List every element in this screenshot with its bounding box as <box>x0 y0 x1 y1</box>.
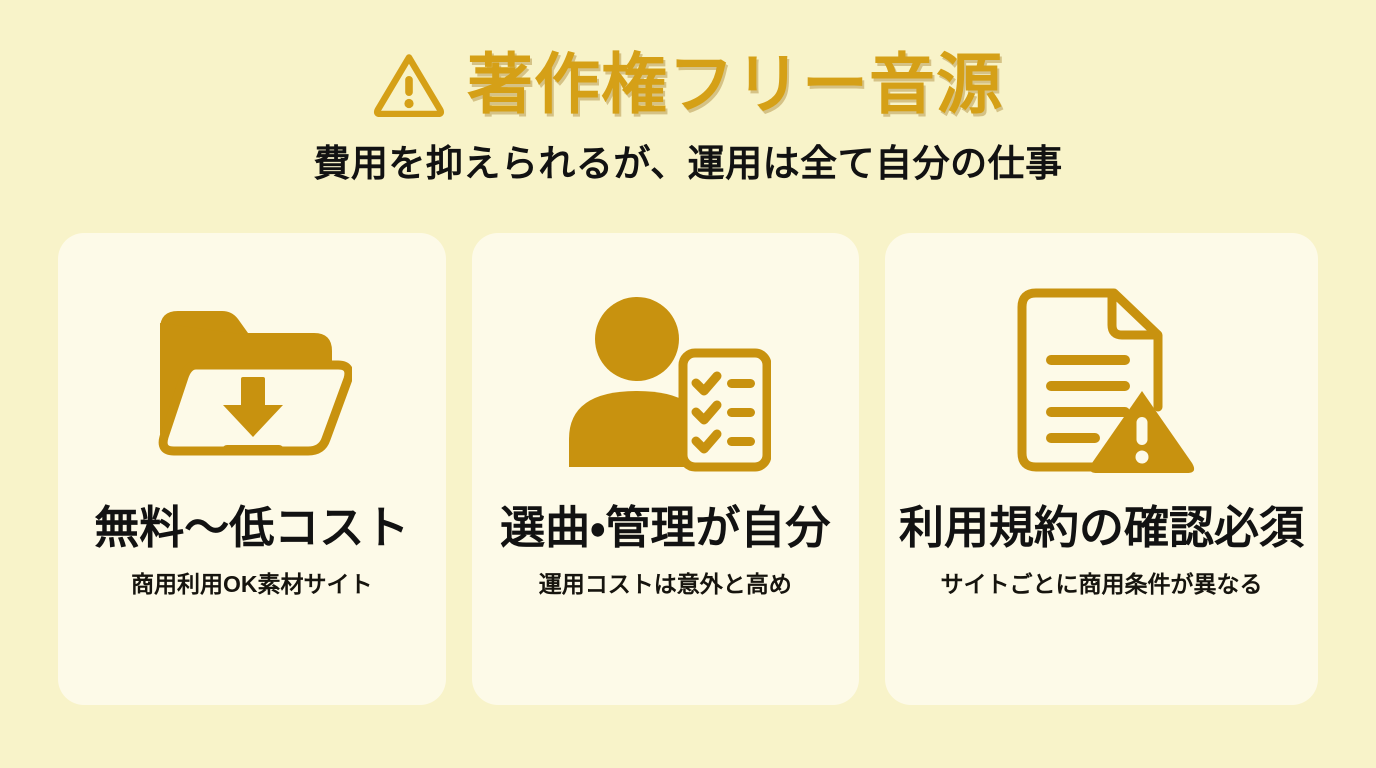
card-subtext: サイトごとに商用条件が異なる <box>941 571 1263 599</box>
person-checklist-icon <box>559 289 771 475</box>
card-self-management[interactable]: 選曲・管理が自分 運用コストは意外と高め <box>472 233 860 705</box>
card-list: 無料〜低コスト 商用利用OK素材サイト <box>58 233 1318 705</box>
document-warning-icon <box>1008 289 1196 475</box>
slide-canvas: 著作権フリー音源 費用を抑えられるが、運用は全て自分の仕事 <box>0 0 1376 768</box>
card-subtext: 商用利用OK素材サイト <box>131 571 373 599</box>
folder-download-icon <box>152 289 352 475</box>
card-heading: 利用規約の確認必須 <box>899 503 1304 553</box>
card-subtext: 運用コストは意外と高め <box>539 571 792 599</box>
card-free-low-cost[interactable]: 無料〜低コスト 商用利用OK素材サイト <box>58 233 446 705</box>
title-row: 著作権フリー音源 <box>0 42 1376 126</box>
card-terms-check[interactable]: 利用規約の確認必須 サイトごとに商用条件が異なる <box>885 233 1318 705</box>
header: 著作権フリー音源 費用を抑えられるが、運用は全て自分の仕事 <box>0 42 1376 186</box>
warning-triangle-icon <box>373 51 445 117</box>
card-heading: 無料〜低コスト <box>94 503 409 553</box>
card-heading: 選曲・管理が自分 <box>500 503 830 553</box>
page-subtitle: 費用を抑えられるが、運用は全て自分の仕事 <box>0 142 1376 186</box>
page-title: 著作権フリー音源 <box>467 51 1003 117</box>
